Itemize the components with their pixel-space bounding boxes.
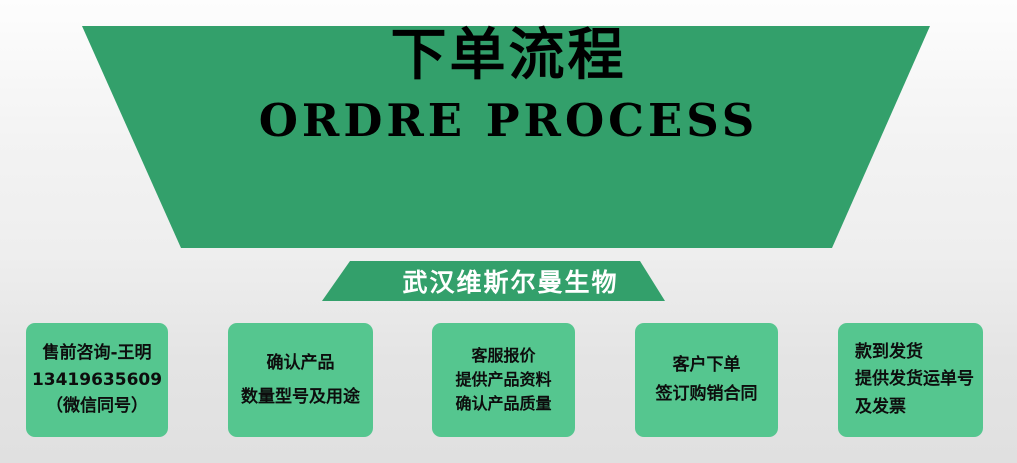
step-line: 确认产品质量 [455, 392, 551, 416]
step-line: 提供发货运单号 [855, 366, 974, 394]
process-steps-row: 售前咨询-王明 13419635609 （微信同号） 确认产品 数量型号及用途 … [0, 323, 1017, 437]
process-step-confirm-product[interactable]: 确认产品 数量型号及用途 [228, 323, 373, 437]
page-title-english: ORDRE PROCESS [259, 94, 759, 147]
step-line: （微信同号） [46, 393, 148, 420]
step-line: 提供产品资料 [455, 368, 551, 392]
process-step-shipment[interactable]: 款到发货 提供发货运单号 及发票 [838, 323, 983, 437]
step-line: 签订购销合同 [656, 380, 758, 409]
step-line: 售前咨询-王明 [42, 340, 151, 367]
step-line: 款到发货 [855, 339, 923, 367]
sub-banner-content: 武汉维斯尔曼生物 [0, 261, 1017, 301]
hero-banner-content: 下单流程 ORDRE PROCESS [0, 0, 1017, 222]
company-name-label: 武汉维斯尔曼生物 [402, 263, 618, 299]
step-line: 客户下单 [673, 351, 741, 380]
step-line: 客服报价 [471, 344, 535, 368]
process-step-quotation[interactable]: 客服报价 提供产品资料 确认产品质量 [432, 323, 575, 437]
step-line: 数量型号及用途 [241, 380, 360, 414]
order-process-infographic: 下单流程 ORDRE PROCESS 武汉维斯尔曼生物 售前咨询-王明 1341… [0, 0, 1017, 463]
step-line: 确认产品 [267, 346, 335, 380]
step-line: 13419635609 [32, 367, 162, 394]
page-title-chinese: 下单流程 [391, 24, 627, 88]
process-step-place-order[interactable]: 客户下单 签订购销合同 [635, 323, 778, 437]
process-step-pre-sales-contact[interactable]: 售前咨询-王明 13419635609 （微信同号） [26, 323, 168, 437]
step-line: 及发票 [855, 394, 906, 422]
